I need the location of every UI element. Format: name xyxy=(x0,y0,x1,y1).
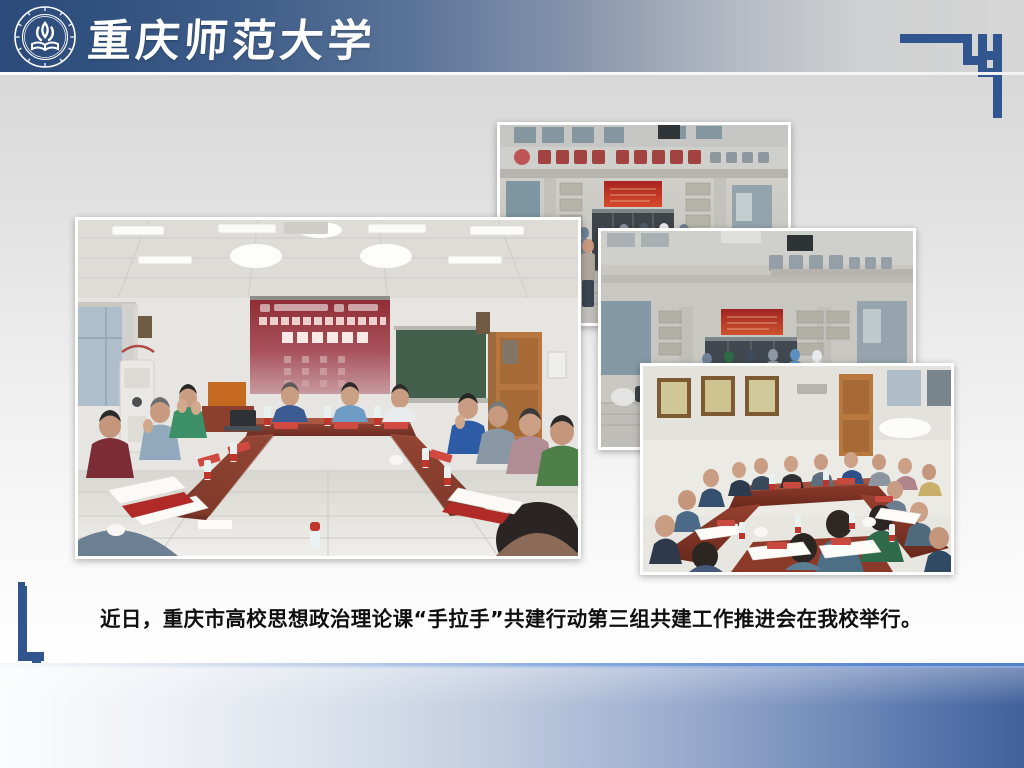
photo-meeting-room-main[interactable] xyxy=(75,217,581,559)
page-header: 重庆师范大学 xyxy=(0,0,1024,72)
caption-text: 近日，重庆市高校思想政治理论课“手拉手”共建行动第三组共建工作推进会在我校举行。 xyxy=(100,578,980,656)
university-seal-icon xyxy=(14,6,76,68)
photo-meeting-room-secondary[interactable] xyxy=(640,363,954,575)
page-footer xyxy=(0,668,1024,768)
caption-band: 近日，重庆市高校思想政治理论课“手拉手”共建行动第三组共建工作推进会在我校举行。 xyxy=(0,578,1024,656)
university-name: 重庆师范大学 xyxy=(86,6,378,68)
photo-collage xyxy=(0,75,1024,565)
slide-root: 重庆师范大学 xyxy=(0,0,1024,768)
footer-gloss xyxy=(0,666,1024,706)
